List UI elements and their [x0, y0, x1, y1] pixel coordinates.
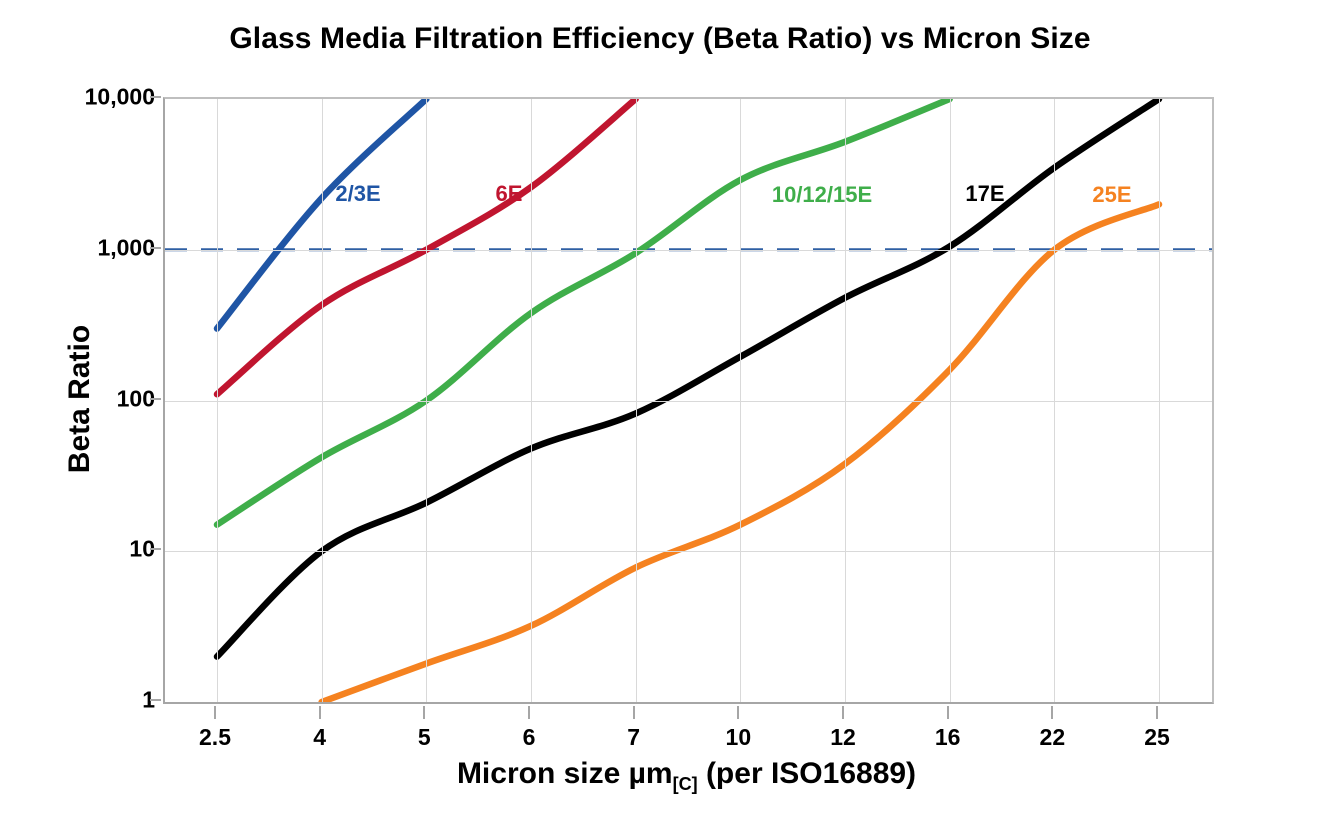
y-axis-tick-mark: [150, 699, 161, 701]
y-axis-tick-mark: [150, 96, 161, 98]
x-axis-tick-mark: [528, 706, 530, 719]
x-axis-tick-label: 12: [830, 724, 856, 751]
series-label-6e: 6E: [496, 181, 523, 207]
y-axis-title: Beta Ratio: [63, 239, 97, 559]
series-label-2-3e: 2/3E: [335, 181, 380, 207]
x-axis-tick-mark: [214, 706, 216, 719]
x-axis-tick-mark: [1156, 706, 1158, 719]
series-label-10-12-15e: 10/12/15E: [772, 182, 872, 208]
gridline-horizontal: [165, 401, 1212, 402]
x-axis-tick-label: 16: [935, 724, 961, 751]
x-axis-tick-label: 2.5: [199, 724, 231, 751]
chart-title: Glass Media Filtration Efficiency (Beta …: [0, 22, 1320, 56]
x-axis-title-subscript: [C]: [673, 774, 698, 794]
y-axis-title-wrap: Beta Ratio: [62, 97, 63, 700]
y-axis-tick-mark: [150, 398, 161, 400]
plot-area: [163, 97, 1214, 704]
x-axis-tick-mark: [633, 706, 635, 719]
x-axis-title: Micron size µm[C] (per ISO16889): [163, 757, 1210, 795]
x-axis-title-tail: (per ISO16889): [698, 757, 916, 790]
x-axis-tick-mark: [737, 706, 739, 719]
gridline-horizontal: [165, 551, 1212, 552]
chart-canvas: Glass Media Filtration Efficiency (Beta …: [0, 0, 1320, 820]
x-axis-tick-label: 5: [418, 724, 431, 751]
gridline-horizontal: [165, 250, 1212, 251]
x-axis-tick-label: 6: [523, 724, 536, 751]
x-axis-title-main: Micron size µm: [457, 757, 673, 790]
y-axis-tick-label: 1: [17, 687, 155, 714]
series-label-17e: 17E: [965, 181, 1004, 207]
x-axis-tick-label: 22: [1040, 724, 1066, 751]
x-axis-tick-labels: 2.545671012162225: [163, 706, 1210, 756]
x-axis-tick-mark: [319, 706, 321, 719]
x-axis-tick-label: 25: [1144, 724, 1170, 751]
x-axis-tick-label: 4: [313, 724, 326, 751]
series-label-25e: 25E: [1092, 182, 1131, 208]
series-line-10-12-15e: [217, 99, 950, 525]
x-axis-tick-mark: [947, 706, 949, 719]
x-axis-tick-mark: [423, 706, 425, 719]
y-axis-tick-mark: [150, 548, 161, 550]
x-axis-tick-label: 10: [726, 724, 752, 751]
x-axis-tick-label: 7: [627, 724, 640, 751]
x-axis-tick-mark: [842, 706, 844, 719]
x-axis-tick-mark: [1051, 706, 1053, 719]
y-axis-tick-label: 10,000: [17, 84, 155, 111]
y-axis-tick-mark: [150, 247, 161, 249]
